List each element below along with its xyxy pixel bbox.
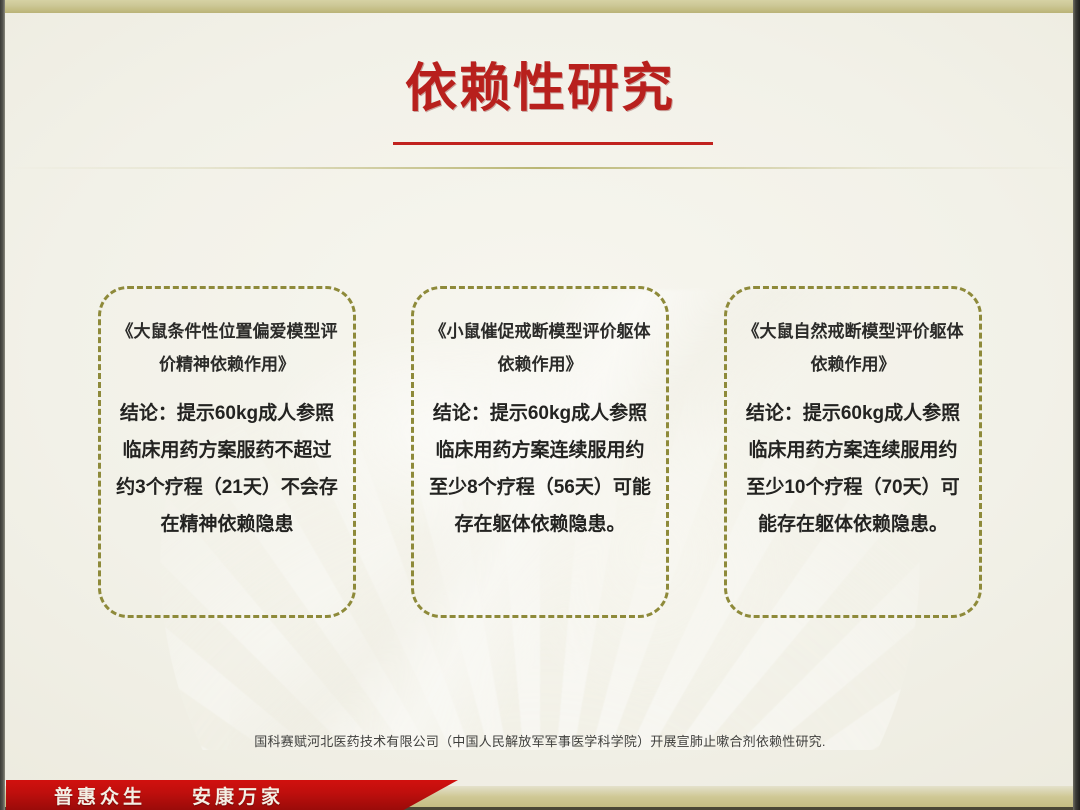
- study-card: 《小鼠催促戒断模型评价躯体依赖作用》 结论：提示60kg成人参照临床用药方案连续…: [411, 286, 669, 618]
- study-card-heading: 《大鼠自然戒断模型评价躯体依赖作用》: [741, 315, 965, 381]
- study-card: 《大鼠条件性位置偏爱模型评价精神依赖作用》 结论：提示60kg成人参照临床用药方…: [98, 286, 356, 618]
- page-title: 依赖性研究: [405, 62, 675, 117]
- title-underline: [393, 142, 713, 145]
- study-card-conclusion: 结论：提示60kg成人参照临床用药方案服药不超过约3个疗程（21天）不会存在精神…: [115, 395, 339, 543]
- right-frame-edge: [1073, 0, 1080, 810]
- presentation-slide: 依赖性研究 《大鼠条件性位置偏爱模型评价精神依赖作用》 结论：提示60kg成人参…: [0, 0, 1080, 810]
- header-divider: [8, 167, 1072, 169]
- study-card-heading: 《小鼠催促戒断模型评价躯体依赖作用》: [428, 315, 652, 381]
- study-card-conclusion: 结论：提示60kg成人参照临床用药方案连续服用约至少8个疗程（56天）可能存在躯…: [428, 395, 652, 543]
- title-zone: 依赖性研究: [0, 62, 1080, 117]
- slogan-text: 普惠众生 安康万家: [54, 782, 284, 809]
- study-card-list: 《大鼠条件性位置偏爱模型评价精神依赖作用》 结论：提示60kg成人参照临床用药方…: [0, 286, 1080, 618]
- slogan-banner: 普惠众生 安康万家: [6, 780, 458, 810]
- source-note: 国科赛赋河北医药技术有限公司（中国人民解放军军事医学科学院）开展宣肺止嗽合剂依赖…: [0, 731, 1080, 750]
- study-card-conclusion: 结论：提示60kg成人参照临床用药方案连续服用约至少10个疗程（70天）可能存在…: [741, 395, 965, 543]
- study-card: 《大鼠自然戒断模型评价躯体依赖作用》 结论：提示60kg成人参照临床用药方案连续…: [724, 286, 982, 618]
- left-frame-edge: [0, 0, 5, 810]
- top-gold-bar: [0, 0, 1080, 13]
- study-card-heading: 《大鼠条件性位置偏爱模型评价精神依赖作用》: [115, 315, 339, 381]
